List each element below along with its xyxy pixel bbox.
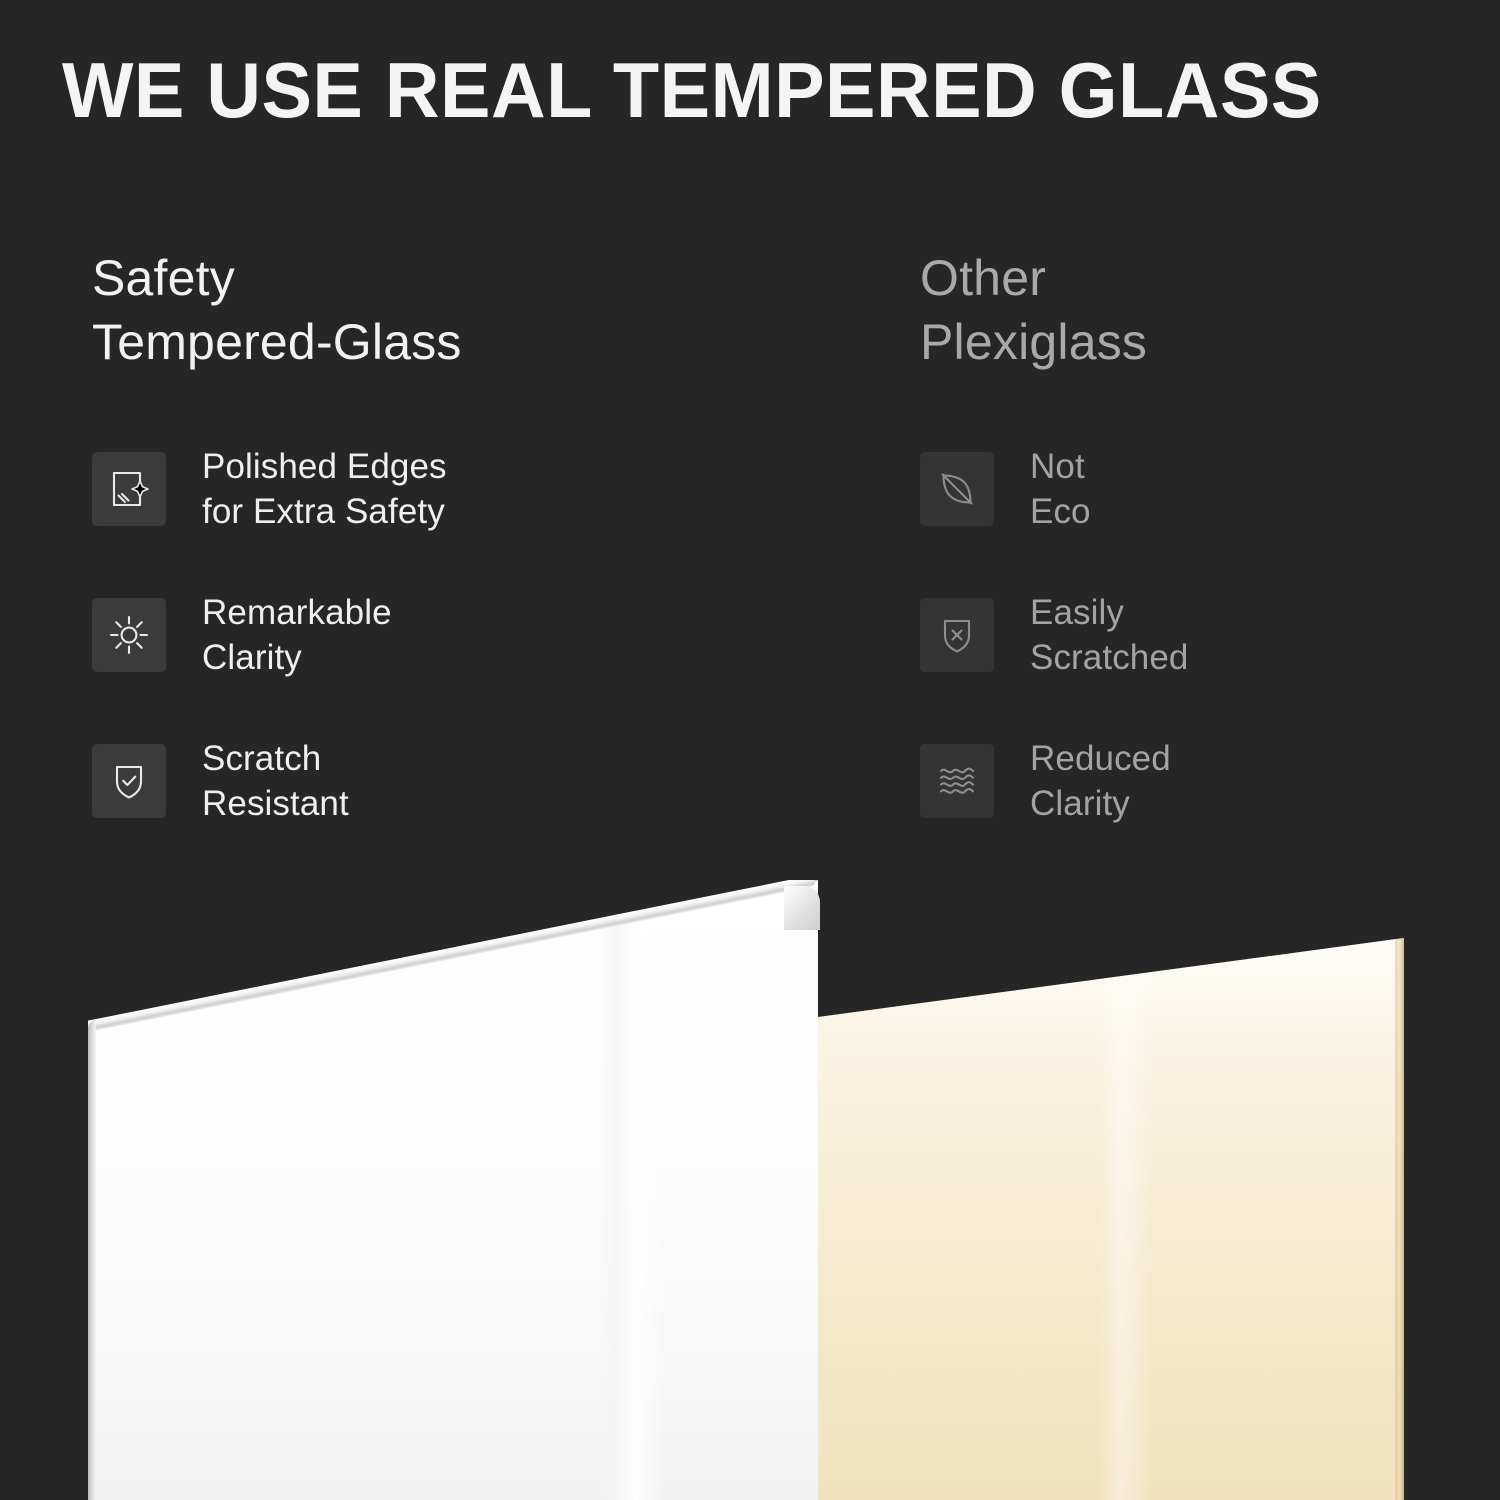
feature-label-remarkable-clarity: Remarkable Clarity <box>202 590 392 680</box>
feature-row-easily-scratched: Easily Scratched <box>920 598 1440 672</box>
feature-row-scratch-resistant: Scratch Resistant <box>92 744 792 818</box>
plexiglass-panel-edge <box>1395 938 1404 1500</box>
feature-label-easily-scratched: Easily Scratched <box>1030 590 1189 680</box>
tempered-glass-rounded-corner <box>784 886 820 930</box>
column-other-plexiglass: Other Plexiglass Not Eco <box>920 246 1440 818</box>
column-safety-tempered-glass: Safety Tempered-Glass Polished Edges for… <box>92 246 792 818</box>
sun-brightness-icon <box>92 598 166 672</box>
column-heading-safety-tempered-glass: Safety Tempered-Glass <box>92 246 792 374</box>
wavy-lines-icon <box>920 744 994 818</box>
column-heading-other-plexiglass: Other Plexiglass <box>920 246 1440 374</box>
feature-label-scratch-resistant: Scratch Resistant <box>202 736 349 826</box>
polished-edge-sparkle-icon <box>92 452 166 526</box>
feature-row-not-eco: Not Eco <box>920 452 1440 526</box>
feature-label-not-eco: Not Eco <box>1030 444 1091 534</box>
feature-row-remarkable-clarity: Remarkable Clarity <box>92 598 792 672</box>
shield-check-icon <box>92 744 166 818</box>
feature-list-other-plexiglass: Not Eco Easily Scratched <box>920 452 1440 818</box>
feature-list-safety-tempered-glass: Polished Edges for Extra Safety <box>92 452 792 818</box>
tempered-glass-panel <box>88 880 818 1500</box>
shield-x-icon <box>920 598 994 672</box>
product-panels <box>0 880 1500 1500</box>
feature-label-reduced-clarity: Reduced Clarity <box>1030 736 1171 826</box>
page-title: WE USE REAL TEMPERED GLASS <box>62 44 1420 136</box>
infographic-root: WE USE REAL TEMPERED GLASS Safety Temper… <box>0 0 1500 1500</box>
feature-row-reduced-clarity: Reduced Clarity <box>920 744 1440 818</box>
plexiglass-panel <box>818 938 1404 1500</box>
feature-label-polished-edges: Polished Edges for Extra Safety <box>202 444 447 534</box>
feature-row-polished-edges: Polished Edges for Extra Safety <box>92 452 792 526</box>
leaf-slash-icon <box>920 452 994 526</box>
tempered-glass-polished-left-edge <box>88 1020 96 1500</box>
